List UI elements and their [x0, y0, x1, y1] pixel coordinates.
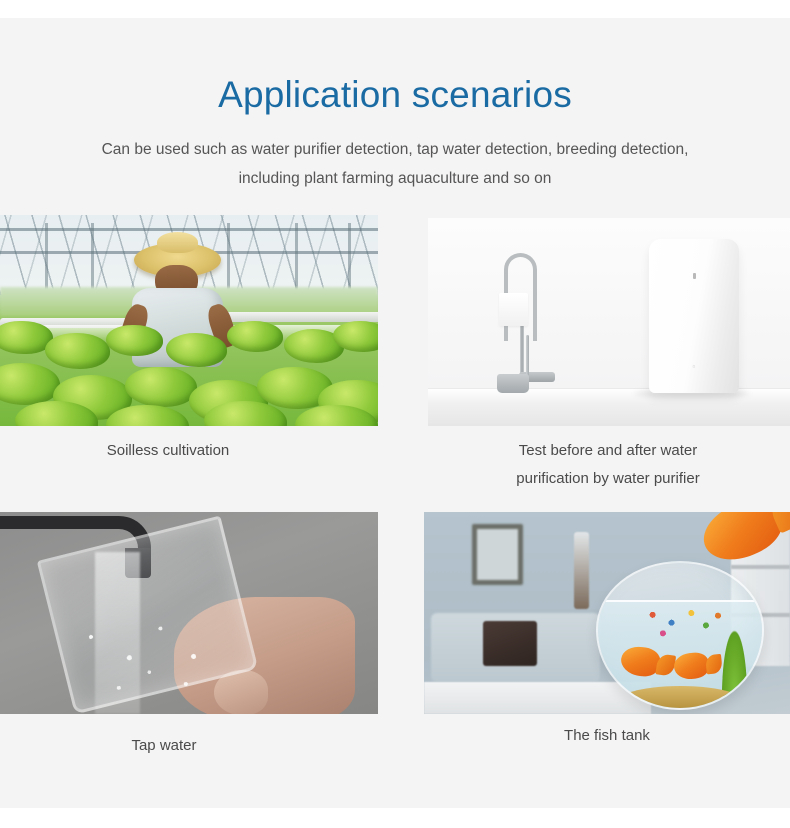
water-purifier-image: ▫ [428, 218, 790, 426]
soilless-cultivation-image [0, 215, 378, 426]
caption-water-purifier: Test before and after water purification… [428, 437, 788, 493]
fish-tank-scene [424, 512, 790, 714]
water-purifier-scene: ▫ [428, 218, 790, 426]
floor-lamp [574, 532, 589, 609]
scenario-card-water-purifier[interactable]: ▫ [428, 218, 790, 426]
caption-tap-water: Tap water [0, 732, 328, 760]
lettuce-plant [166, 333, 226, 367]
scenario-card-tap-water[interactable] [0, 512, 378, 714]
colored-pebbles [644, 606, 729, 650]
scenario-card-grid: Soilless cultivation ▫ [0, 0, 790, 828]
lettuce-plant [45, 333, 109, 369]
caption-soilless-cultivation: Soilless cultivation [0, 437, 336, 465]
lettuce-plant [0, 363, 60, 405]
application-scenarios-page: Application scenarios Can be used such a… [0, 0, 790, 828]
purifier-brand-logo: ▫ [692, 362, 695, 371]
scenario-card-fish-tank[interactable] [424, 512, 790, 714]
tap-water-image [0, 512, 378, 714]
aquatic-plant [720, 621, 750, 697]
tap-water-scene [0, 512, 378, 714]
shelf-divider [731, 565, 790, 569]
lettuce-plant [125, 367, 197, 407]
wall-picture-frame [472, 524, 523, 585]
lettuce-plant [106, 325, 163, 357]
scenario-card-soilless-cultivation[interactable] [0, 215, 378, 426]
lettuce-plant [227, 321, 284, 353]
greenhouse-beam [0, 228, 378, 231]
greenhouse-scene [0, 215, 378, 426]
water-purifier-unit: ▫ [649, 239, 740, 393]
faucet-handle [526, 335, 529, 377]
bowl-waterline [605, 600, 756, 602]
goldfish-bowl [596, 561, 764, 710]
cushion [483, 621, 538, 665]
caption-fish-tank: The fish tank [424, 722, 790, 750]
purifier-indicator-light [693, 273, 696, 279]
fish-tank-image [424, 512, 790, 714]
faucet-base [497, 374, 530, 393]
faucet-filter-attachment [499, 293, 528, 326]
